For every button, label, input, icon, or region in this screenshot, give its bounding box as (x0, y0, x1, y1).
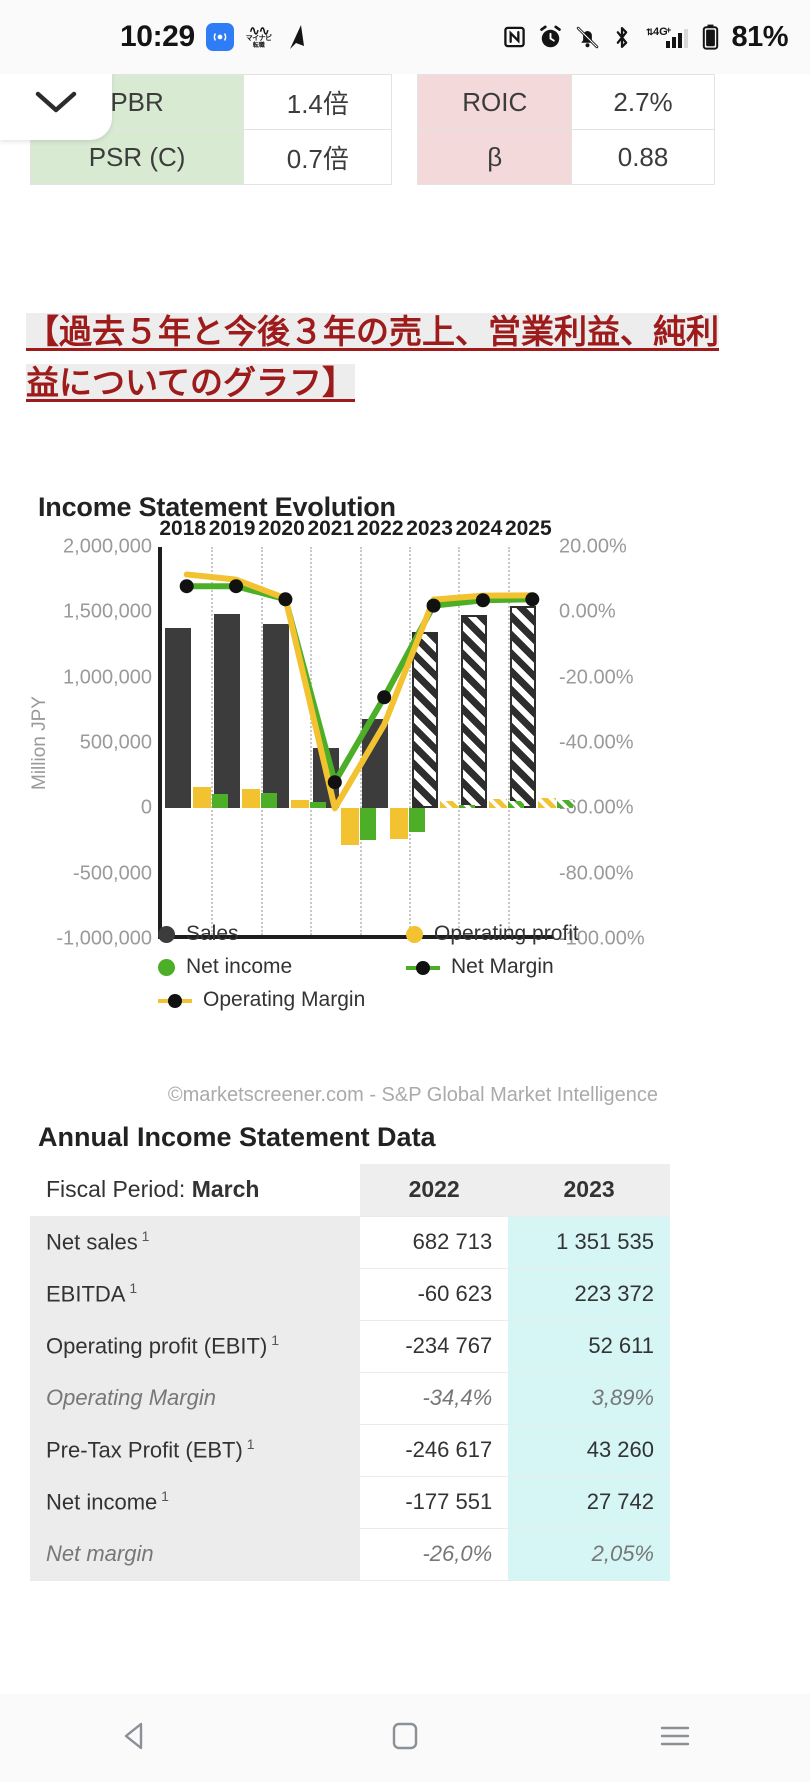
x-axis-tick-label: 2018 (159, 517, 206, 541)
cell-2023: 52 611 (508, 1320, 670, 1372)
x-axis-tick-label: 2024 (456, 517, 503, 541)
cell-2022: -234 767 (360, 1320, 508, 1372)
annual-income-statement-table: Fiscal Period: March 2022 2023 Net sales… (30, 1164, 670, 1581)
y-axis-tick: 0 (141, 797, 152, 820)
table-body: Net sales 1682 7131 351 535EBITDA 1-60 6… (30, 1216, 670, 1580)
y2-axis-tick: -20.00% (559, 666, 634, 689)
row-label: Operating Margin (30, 1372, 360, 1424)
y-axis-right-ticks: 20.00%0.00%-20.00%-40.00%-60.00%-80.00%-… (553, 547, 658, 939)
legend-label: Operating Margin (203, 988, 365, 1012)
x-axis-tick-label: 2019 (209, 517, 256, 541)
table-row: Pre-Tax Profit (EBT) 1-246 61743 260 (30, 1424, 670, 1476)
battery-percent-label: 81% (731, 21, 788, 54)
y-axis-tick: 500,000 (80, 732, 152, 755)
navigation-arrow-icon (284, 24, 308, 50)
sales-swatch-icon (158, 926, 175, 943)
nav-recents-button[interactable] (620, 1694, 730, 1782)
phone-screen: 10:29 ∿∿ マイナビ 転職 (0, 0, 810, 1782)
fiscal-period-prefix: Fiscal Period: (46, 1176, 192, 1202)
table-row: Net income 1-177 55127 742 (30, 1476, 670, 1528)
fiscal-period-header: Fiscal Period: March (30, 1164, 360, 1216)
legend-item-operating-profit: Operating profit (406, 922, 579, 946)
y-axis-tick: 1,500,000 (63, 601, 152, 624)
legend-label: Operating profit (434, 922, 579, 946)
svg-text:⇅: ⇅ (646, 27, 654, 37)
cell-2022: -177 551 (360, 1476, 508, 1528)
footnote-marker: 1 (157, 1488, 169, 1504)
cell-2023: 2,05% (508, 1528, 670, 1580)
x-axis-labels: 20182019202020212022202320242025 (158, 517, 553, 545)
app-badge-icon (206, 23, 234, 51)
column-header-2022: 2022 (360, 1164, 508, 1216)
y-axis-left-ticks: 2,000,0001,500,0001,000,000500,0000-500,… (38, 547, 158, 939)
legend-item-operating-margin: Operating Margin (158, 988, 406, 1012)
footnote-marker: 1 (267, 1332, 279, 1348)
chart-series-container (158, 547, 553, 939)
legend-row: Net income Net Margin (158, 955, 658, 979)
x-axis-tick-label: 2025 (505, 517, 552, 541)
metric-label-beta: β (418, 130, 572, 185)
nfc-icon (503, 25, 526, 49)
row-label: Net sales 1 (30, 1216, 360, 1268)
y-axis-tick: 1,000,000 (63, 666, 152, 689)
metric-value-psr: 0.7倍 (244, 130, 392, 185)
cell-2022: -60 623 (360, 1268, 508, 1320)
status-clock: 10:29 (120, 20, 195, 54)
footnote-marker: 1 (243, 1436, 255, 1452)
cell-2022: 682 713 (360, 1216, 508, 1268)
table-section-title: Annual Income Statement Data (38, 1122, 436, 1153)
status-bar-left: 10:29 ∿∿ マイナビ 転職 (120, 0, 308, 74)
table-row: EBITDA 1-60 623223 372 (30, 1268, 670, 1320)
cell-2023: 3,89% (508, 1372, 670, 1424)
table-row: Operating Margin-34,4%3,89% (30, 1372, 670, 1424)
valuation-metric-table: PBR 1.4倍 ROIC 2.7% PSR (C) 0.7倍 β 0.88 (30, 74, 715, 185)
fiscal-period-value: March (192, 1176, 260, 1202)
browser-page-content: PBR 1.4倍 ROIC 2.7% PSR (C) 0.7倍 β 0.88 (0, 74, 810, 1694)
nav-back-button[interactable] (80, 1694, 190, 1782)
table-row: Operating profit (EBIT) 1-234 76752 611 (30, 1320, 670, 1372)
net-income-swatch-icon (158, 959, 175, 976)
legend-item-sales: Sales (158, 922, 406, 946)
chevron-down-icon (34, 89, 78, 120)
x-axis-tick-label: 2021 (307, 517, 354, 541)
mute-bell-icon (575, 25, 600, 50)
legend-item-net-income: Net income (158, 955, 406, 979)
net-margin-line-icon (406, 959, 440, 976)
x-axis-tick-label: 2020 (258, 517, 305, 541)
home-square-icon (390, 1719, 420, 1758)
cell-2023: 43 260 (508, 1424, 670, 1476)
svg-text:+: + (666, 25, 671, 35)
table-row: PBR 1.4倍 ROIC 2.7% (31, 75, 715, 130)
y-axis-tick: -1,000,000 (56, 928, 152, 951)
operating-margin-line-icon (158, 992, 192, 1009)
table-row: Net sales 1682 7131 351 535 (30, 1216, 670, 1268)
bar-ni (557, 800, 573, 808)
metric-table-strip: PBR 1.4倍 ROIC 2.7% PSR (C) 0.7倍 β 0.88 (0, 74, 810, 184)
metric-label-roic: ROIC (418, 75, 572, 130)
status-bar-right: 4G ⇅ + 81% (503, 0, 788, 74)
chart-credit: ©marketscreener.com - S&P Global Market … (38, 1084, 658, 1107)
metric-value-beta: 0.88 (572, 130, 715, 185)
table-gap (392, 75, 418, 130)
legend-label: Net income (186, 955, 292, 979)
footnote-marker: 1 (138, 1228, 150, 1244)
table-gap (392, 130, 418, 185)
table-row: Net margin-26,0%2,05% (30, 1528, 670, 1580)
legend-row: Sales Operating profit (158, 922, 658, 946)
x-axis-tick-label: 2023 (406, 517, 453, 541)
recents-lines-icon (658, 1721, 692, 1756)
page-title-line1: 【過去５年と今後３年の売上、営業利益、純利 (26, 313, 719, 350)
table-row: Fiscal Period: March 2022 2023 (30, 1164, 670, 1216)
income-statement-chart: Income Statement Evolution Million JPY 2… (38, 492, 658, 1072)
metric-value-pbr: 1.4倍 (244, 75, 392, 130)
chart-plot-area: Million JPY 2,000,0001,500,0001,000,0005… (38, 547, 658, 967)
back-triangle-icon (118, 1719, 152, 1758)
mynavi-icon: ∿∿ マイナビ 転職 (245, 23, 273, 51)
legend-row: Operating Margin (158, 988, 658, 1012)
legend-item-net-margin: Net Margin (406, 955, 554, 979)
row-label: Net income 1 (30, 1476, 360, 1528)
nav-home-button[interactable] (350, 1694, 460, 1782)
page-title-line2: 益についてのグラフ】 (26, 364, 355, 401)
cell-2023: 1 351 535 (508, 1216, 670, 1268)
margin-lines-layer (162, 547, 557, 939)
table-row: PSR (C) 0.7倍 β 0.88 (31, 130, 715, 185)
collapse-chevron-button[interactable] (0, 74, 112, 140)
cell-2022: -34,4% (360, 1372, 508, 1424)
cell-2022: -26,0% (360, 1528, 508, 1580)
row-label: Net margin (30, 1528, 360, 1580)
y-axis-tick: -500,000 (73, 862, 152, 885)
footnote-marker: 1 (125, 1280, 137, 1296)
row-label: Operating profit (EBIT) 1 (30, 1320, 360, 1372)
cell-2022: -246 617 (360, 1424, 508, 1476)
cell-2023: 27 742 (508, 1476, 670, 1528)
row-label: Pre-Tax Profit (EBT) 1 (30, 1424, 360, 1476)
metric-value-roic: 2.7% (572, 75, 715, 130)
alarm-icon (538, 25, 563, 50)
y2-axis-tick: 20.00% (559, 536, 627, 559)
cell-2023: 223 372 (508, 1268, 670, 1320)
android-navigation-bar (0, 1694, 810, 1782)
table-header: Fiscal Period: March 2022 2023 (30, 1164, 670, 1216)
y-axis-tick: 2,000,000 (63, 536, 152, 559)
chart-legend: Sales Operating profit Net income Net Ma… (158, 922, 658, 1021)
battery-icon (702, 24, 719, 50)
legend-label: Net Margin (451, 955, 554, 979)
bluetooth-icon (612, 25, 632, 50)
status-bar: 10:29 ∿∿ マイナビ 転職 (0, 0, 810, 74)
y2-axis-tick: -80.00% (559, 862, 634, 885)
operating-profit-swatch-icon (406, 926, 423, 943)
x-axis-tick-label: 2022 (357, 517, 404, 541)
y2-axis-tick: -40.00% (559, 732, 634, 755)
column-header-2023: 2023 (508, 1164, 670, 1216)
y2-axis-tick: 0.00% (559, 601, 616, 624)
legend-label: Sales (186, 922, 239, 946)
page-title: 【過去５年と今後３年の売上、営業利益、純利 益についてのグラフ】 (26, 306, 726, 408)
signal-4g-icon: 4G ⇅ + (644, 24, 690, 50)
row-label: EBITDA 1 (30, 1268, 360, 1320)
